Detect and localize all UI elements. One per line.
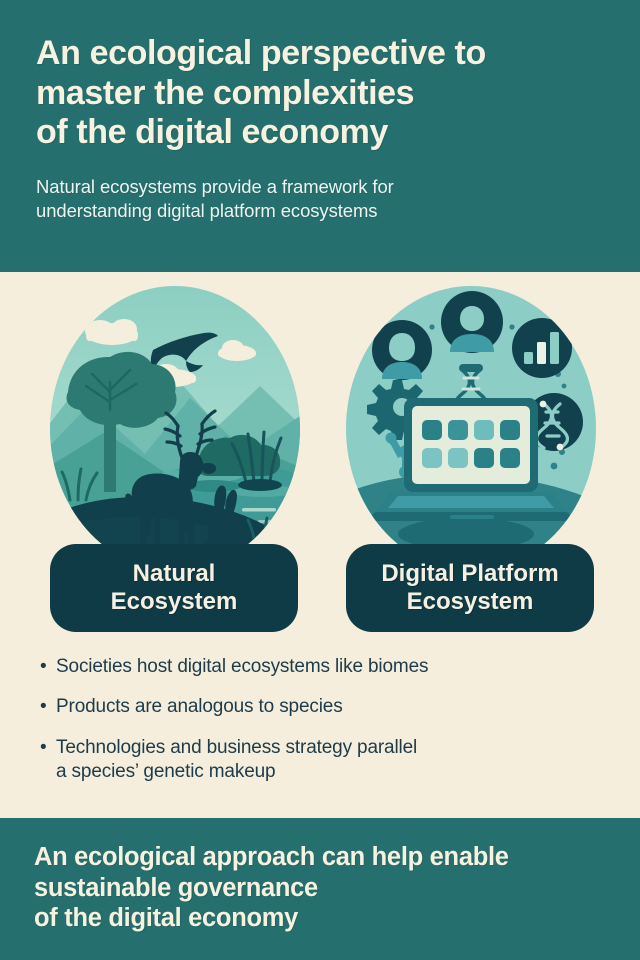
list-item: • Products are analogous to species bbox=[40, 695, 600, 719]
footer-takeaway: An ecological approach can help enable s… bbox=[34, 842, 606, 934]
reed-base bbox=[238, 479, 282, 491]
panel-natural-label: Natural Ecosystem bbox=[111, 560, 238, 616]
water-highlight-2 bbox=[258, 520, 282, 523]
panel-natural-ecosystem[interactable]: Natural Ecosystem bbox=[22, 272, 322, 652]
bullet-marker-icon: • bbox=[40, 695, 56, 719]
bullet-marker-icon: • bbox=[40, 655, 56, 679]
list-item-text: Technologies and business strategy paral… bbox=[56, 736, 417, 785]
user-avatar-icon-left bbox=[372, 320, 432, 380]
list-item-text: Societies host digital ecosystems like b… bbox=[56, 655, 428, 679]
digital-ecosystem-illustration bbox=[346, 286, 596, 571]
list-item: • Technologies and business strategy par… bbox=[40, 736, 600, 785]
panel-natural-label-pill[interactable]: Natural Ecosystem bbox=[50, 544, 298, 632]
list-item-text: Products are analogous to species bbox=[56, 695, 343, 719]
comparison-panels: Natural Ecosystem bbox=[0, 272, 640, 652]
user-avatar-icon-top bbox=[441, 291, 503, 353]
bar-chart-icon bbox=[512, 318, 572, 378]
tree-trunk bbox=[104, 406, 116, 492]
list-item: • Societies host digital ecosystems like… bbox=[40, 655, 600, 679]
panel-digital-label: Digital Platform Ecosystem bbox=[381, 560, 558, 616]
footer-banner: An ecological approach can help enable s… bbox=[0, 818, 640, 960]
panel-digital-label-pill[interactable]: Digital Platform Ecosystem bbox=[346, 544, 594, 632]
natural-ecosystem-illustration bbox=[50, 286, 300, 571]
header-banner: An ecological perspective to master the … bbox=[0, 0, 640, 272]
bullet-marker-icon: • bbox=[40, 736, 56, 785]
key-points-list: • Societies host digital ecosystems like… bbox=[0, 655, 640, 800]
page-title: An ecological perspective to master the … bbox=[36, 34, 604, 153]
water-highlight-1 bbox=[242, 508, 276, 512]
page-subtitle: Natural ecosystems provide a framework f… bbox=[36, 175, 604, 222]
panel-digital-ecosystem[interactable]: Digital Platform Ecosystem bbox=[318, 272, 618, 652]
